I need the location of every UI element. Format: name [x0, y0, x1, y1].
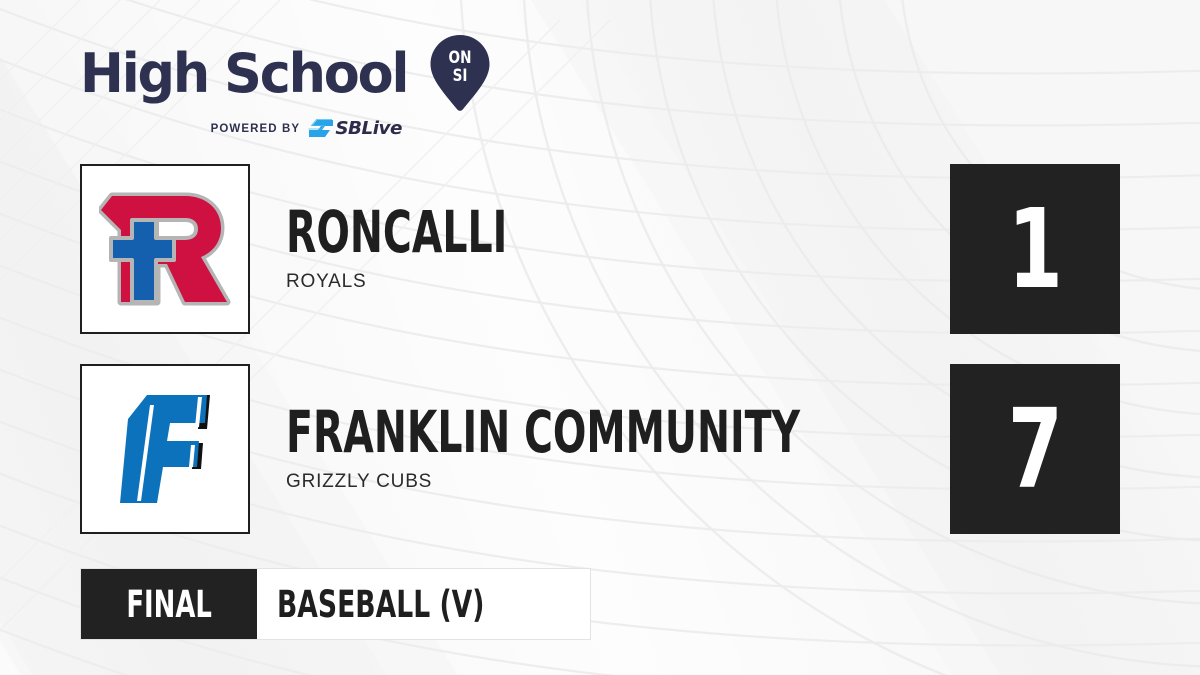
game-state-label: FINAL [126, 586, 212, 623]
game-status-bar: FINAL BASEBALL (V) [80, 568, 591, 640]
pin-line-2-text: SI [453, 66, 468, 86]
pin-line-1-text: ON [449, 48, 472, 68]
team-score-box: 7 [950, 364, 1120, 534]
team-mascot: GRIZZLY CUBS [286, 471, 1042, 493]
team-mascot: ROYALS [286, 271, 611, 293]
brand-header: High School ON SI POWERED BY SBLive [80, 36, 510, 138]
sblive-s-icon [308, 119, 334, 138]
team-row: RONCALLI ROYALS 1 [80, 164, 1120, 334]
team-score: 1 [1007, 194, 1062, 304]
game-state-badge: FINAL [81, 569, 257, 639]
on-si-pin-icon: ON SI [429, 34, 491, 112]
brand-wordmark: High School [80, 47, 407, 101]
sport-label: BASEBALL (V) [277, 586, 484, 623]
roncalli-r-cross-logo-icon [99, 190, 231, 308]
team-score-box: 1 [950, 164, 1120, 334]
team-info: FRANKLIN COMMUNITY GRIZZLY CUBS [286, 364, 1042, 534]
team-name: FRANKLIN COMMUNITY [286, 405, 800, 460]
team-logo-tile [80, 164, 250, 334]
sblive-logo: SBLive [308, 119, 401, 138]
team-row: FRANKLIN COMMUNITY GRIZZLY CUBS 7 [80, 364, 1120, 534]
franklin-f-logo-icon [106, 389, 224, 509]
powered-by-label: POWERED BY [211, 123, 301, 135]
powered-by-row: POWERED BY SBLive [80, 119, 510, 138]
team-logo-tile [80, 364, 250, 534]
sport-label-panel: BASEBALL (V) [257, 569, 590, 639]
sblive-wordmark: SBLive [336, 120, 403, 138]
team-info: RONCALLI ROYALS [286, 164, 611, 334]
team-score: 7 [1007, 394, 1062, 504]
team-name: RONCALLI [286, 205, 507, 260]
